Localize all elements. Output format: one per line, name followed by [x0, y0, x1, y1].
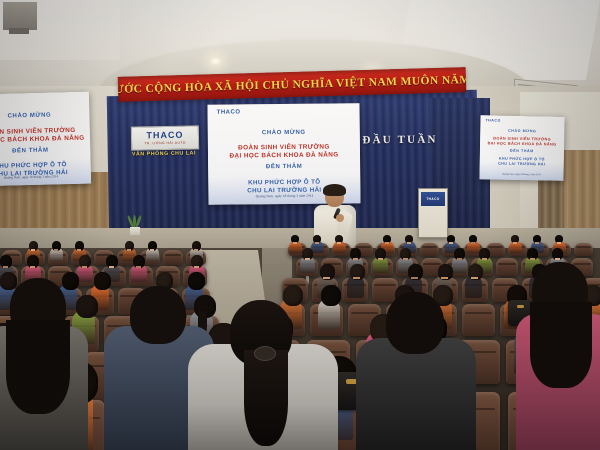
audience-neck	[82, 266, 87, 268]
audience-member	[25, 255, 41, 279]
foreground-right-head	[386, 292, 444, 354]
slide-content: THACO CHÀO MỪNG ĐOÀN SINH VIÊN TRƯỜNG ĐẠ…	[479, 115, 564, 180]
slide-line-visit: ĐẾN THĂM	[208, 164, 360, 173]
thaco-brand-sign: THACO TR. ƯỜNG HẢI AUTO	[131, 125, 199, 150]
audience-neck	[3, 266, 8, 268]
audience-neck	[136, 266, 141, 268]
audience-neck	[441, 277, 448, 279]
slide-line-place-2: CHU LAI TRƯỜNG HẢI	[480, 161, 564, 167]
audience-neck	[403, 258, 408, 260]
slide-body: CHÀO MỪNG ĐOÀN SINH VIÊN TRƯỜNG ĐẠI HỌC …	[480, 128, 565, 167]
thaco-brand-name: THACO	[146, 131, 183, 141]
audience-neck	[385, 242, 389, 244]
downlight-icon	[210, 57, 221, 65]
slide-date: Quảng Nam, ngày 18 tháng 3 năm 2014	[0, 174, 91, 181]
auditorium-chair	[574, 243, 593, 256]
podium-logo-text: THACO	[426, 197, 439, 201]
audience-neck	[293, 242, 297, 244]
auditorium-chair	[420, 243, 439, 256]
audience-neck	[378, 258, 383, 260]
thaco-brand-subtitle: TR. ƯỜNG HẢI AUTO	[144, 141, 186, 146]
office-label: VĂN PHÒNG CHU LAI	[128, 150, 200, 157]
audience-member	[50, 241, 63, 259]
slide-line-welcome: CHÀO MỪNG	[0, 112, 90, 122]
foreground-ponytail	[244, 350, 288, 446]
audience-neck	[411, 277, 418, 279]
slide-line-visit: ĐẾN THĂM	[480, 148, 564, 154]
audience-neck	[150, 249, 154, 251]
slide-logo: THACO	[217, 109, 241, 115]
slogan-banner-text: NƯỚC CỘNG HÒA XÃ HỘI CHỦ NGHĨA VIỆT NAM …	[118, 73, 467, 95]
hair-tie-icon	[254, 346, 276, 361]
audience-neck	[557, 242, 561, 244]
audience-neck	[535, 242, 539, 244]
projection-screen-right: THACO CHÀO MỪNG ĐOÀN SINH VIÊN TRƯỜNG ĐẠ…	[479, 115, 564, 180]
audience-neck	[407, 242, 411, 244]
foreground-left-head	[130, 286, 186, 344]
foreground-person-far-right	[516, 262, 600, 450]
audience-member	[509, 235, 522, 251]
audience-neck	[530, 258, 535, 260]
audience-neck	[323, 277, 330, 279]
audience-member	[333, 235, 346, 251]
audience-neck	[471, 277, 478, 279]
foreground-far-left-hair	[6, 320, 70, 414]
foreground-person-far-left	[0, 278, 88, 450]
audience-member	[300, 248, 315, 270]
audience-neck	[30, 266, 35, 268]
audience-member	[373, 248, 388, 270]
audience-neck	[54, 249, 58, 251]
dau-tuan-label: ĐẦU TUẦN	[362, 134, 438, 147]
audience-neck	[471, 242, 475, 244]
audience-neck	[315, 242, 319, 244]
audience-neck	[353, 258, 358, 260]
audience-neck	[353, 277, 360, 279]
slide-body: CHÀO MỪNG ĐOÀN SINH VIÊN TRƯỜNG ĐẠI HỌC …	[0, 112, 91, 179]
foreground-far-right-hair	[530, 302, 592, 388]
slide-logo-text: THACO	[485, 119, 500, 123]
audience-neck	[31, 249, 35, 251]
audience-member	[131, 255, 147, 279]
audience-neck	[127, 249, 131, 251]
audience-neck	[109, 266, 114, 268]
speaker-hair	[323, 184, 346, 196]
audience-neck	[513, 242, 517, 244]
slide-date: Quảng Nam, ngày 18 tháng 3 năm 2014	[480, 172, 564, 176]
audience-neck	[77, 249, 81, 251]
slide-logo: THACO	[485, 119, 500, 123]
foreground-right-body	[356, 338, 476, 450]
foreground-person-right	[356, 292, 476, 450]
podium: THACO	[418, 188, 448, 238]
slide-line-visit: ĐẾN THĂM	[0, 146, 90, 156]
slide-logo-text: THACO	[217, 109, 241, 115]
speaker-hand	[336, 214, 344, 222]
audience-neck	[305, 258, 310, 260]
audience-neck	[194, 249, 198, 251]
audience-neck	[449, 242, 453, 244]
auditorium-chair	[496, 258, 518, 276]
audience-neck	[457, 258, 462, 260]
audience-member	[465, 264, 482, 294]
audience-member	[146, 241, 159, 259]
audience-neck	[337, 242, 341, 244]
projection-screen-left: THACO CHÀO MỪNG ĐOÀN SINH VIÊN TRƯỜNG ĐẠ…	[0, 92, 91, 187]
audience-neck	[555, 258, 560, 260]
auditorium-chair	[163, 250, 183, 265]
audience-member	[347, 264, 364, 294]
slide-line-welcome: CHÀO MỪNG	[480, 128, 564, 134]
slide-content: THACO CHÀO MỪNG ĐOÀN SINH VIÊN TRƯỜNG ĐẠ…	[0, 92, 91, 187]
audience-neck	[482, 258, 487, 260]
foreground-audience-member	[188, 300, 338, 450]
podium-logo-panel: THACO	[421, 192, 445, 206]
conference-hall-photo: NƯỚC CỘNG HÒA XÃ HỘI CHỦ NGHĨA VIỆT NAM …	[0, 0, 600, 450]
audience-neck	[194, 266, 199, 268]
potted-plant-icon	[127, 213, 143, 235]
projector-mount	[3, 2, 37, 30]
slide-line-welcome: CHÀO MỪNG	[208, 129, 360, 138]
